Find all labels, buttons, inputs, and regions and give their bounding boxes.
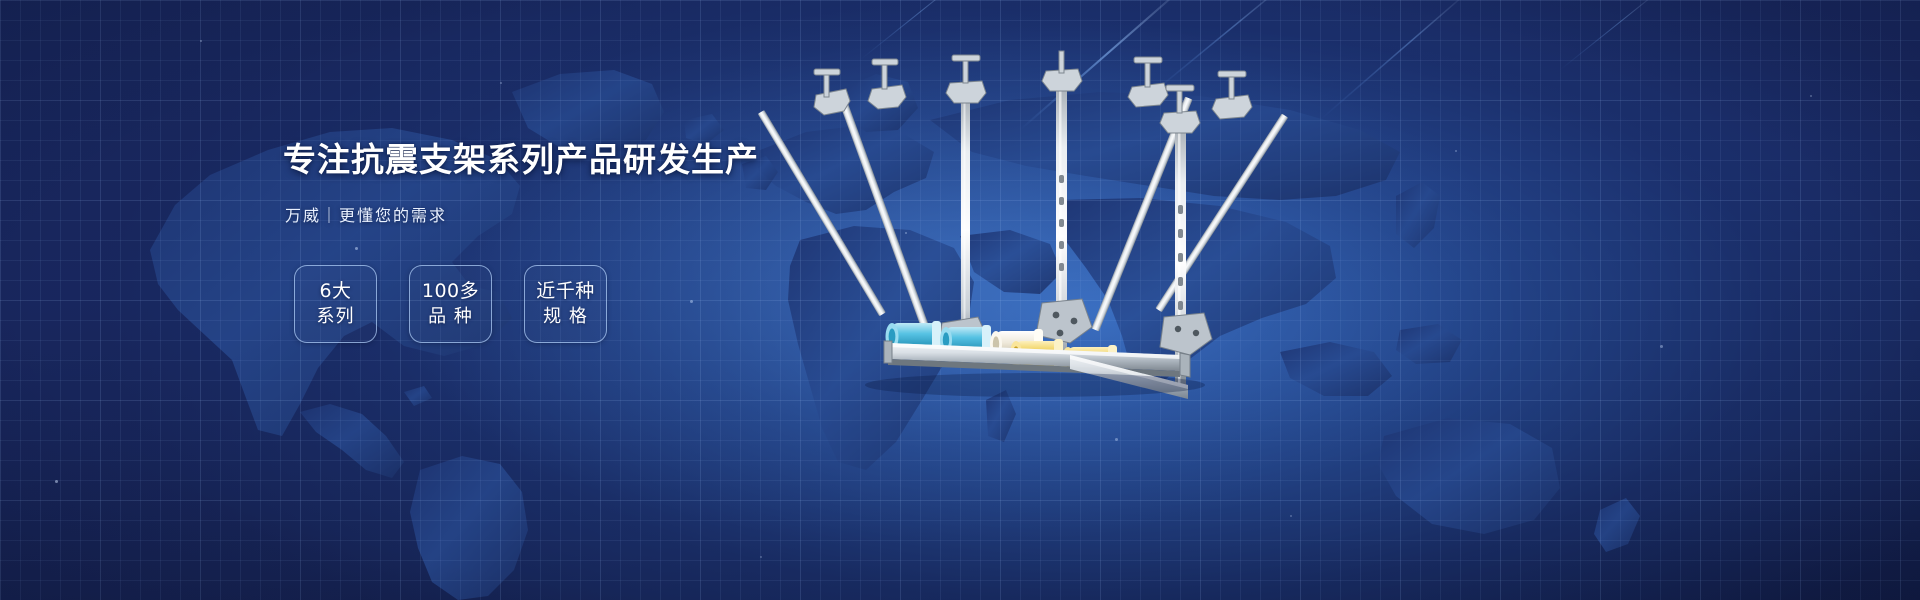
badge-series-line1: 6大	[319, 280, 351, 302]
badge-specifications-line2: 规 格	[543, 306, 588, 328]
badge-varieties[interactable]: 100多 品 种	[409, 265, 492, 343]
banner-badge-group: 6大 系列 100多 品 种 近千种 规 格	[294, 265, 607, 343]
banner-subheadline: 万威｜更懂您的需求	[285, 204, 983, 228]
badge-series-line2: 系列	[317, 306, 355, 328]
banner-copy: 专注抗震支架系列产品研发生产 万威｜更懂您的需求	[283, 138, 983, 228]
badge-varieties-line1: 100多	[422, 280, 479, 302]
hero-banner: 专注抗震支架系列产品研发生产 万威｜更懂您的需求 6大 系列 100多 品 种 …	[0, 0, 1920, 600]
banner-headline: 专注抗震支架系列产品研发生产	[283, 138, 983, 182]
badge-series[interactable]: 6大 系列	[294, 265, 377, 343]
badge-specifications[interactable]: 近千种 规 格	[524, 265, 607, 343]
badge-varieties-line2: 品 种	[428, 306, 473, 328]
background-vignette	[0, 0, 1920, 600]
badge-specifications-line1: 近千种	[536, 280, 595, 302]
